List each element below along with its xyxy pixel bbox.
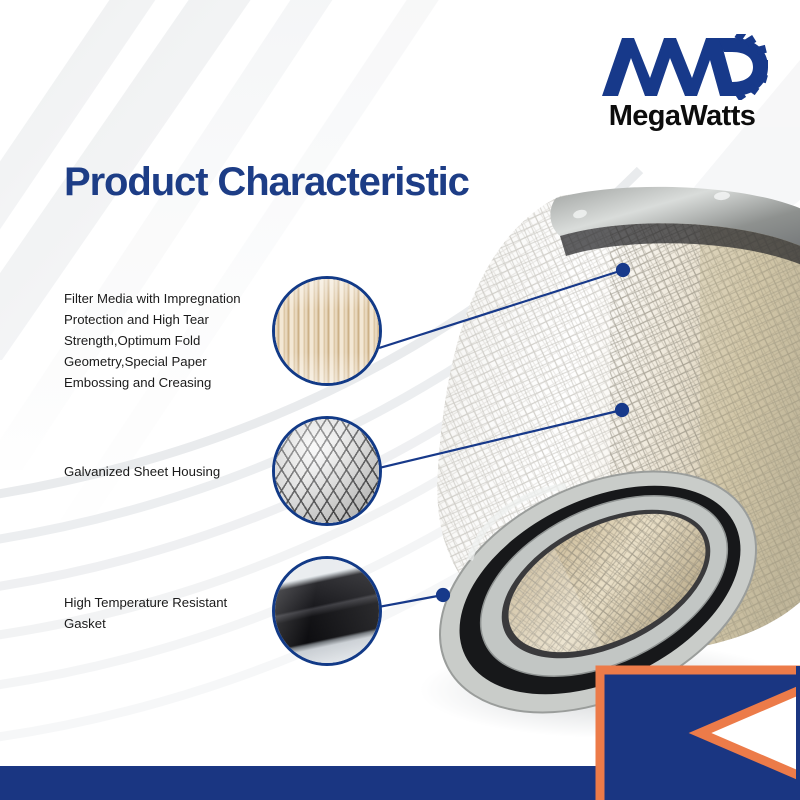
feature-line: Gasket xyxy=(64,613,274,634)
pleated-filter-media-texture-icon xyxy=(275,279,379,383)
feature-label-filter-media: Filter Media with Impregnation Protectio… xyxy=(64,288,274,393)
expanded-metal-mesh-texture-icon xyxy=(275,419,379,523)
feature-label-gasket: High Temperature Resistant Gasket xyxy=(64,592,274,634)
rubber-gasket-texture-icon xyxy=(275,559,379,663)
callout-connectors xyxy=(0,0,800,800)
bottom-accent-bar xyxy=(0,766,800,800)
feature-line: Strength,Optimum Fold xyxy=(64,330,274,351)
feature-line: Galvanized Sheet Housing xyxy=(64,461,274,482)
detail-thumb-gasket[interactable] xyxy=(272,556,382,666)
detail-thumb-filter-media[interactable] xyxy=(272,276,382,386)
feature-line: Geometry,Special Paper xyxy=(64,351,274,372)
infographic-canvas: MegaWatts Product Characteristic Filter … xyxy=(0,0,800,800)
feature-line: High Temperature Resistant xyxy=(64,592,274,613)
detail-thumb-galvanized-housing[interactable] xyxy=(272,416,382,526)
feature-line: Embossing and Creasing xyxy=(64,372,274,393)
feature-line: Protection and High Tear xyxy=(64,309,274,330)
feature-line: Filter Media with Impregnation xyxy=(64,288,274,309)
feature-label-galvanized-housing: Galvanized Sheet Housing xyxy=(64,461,274,482)
